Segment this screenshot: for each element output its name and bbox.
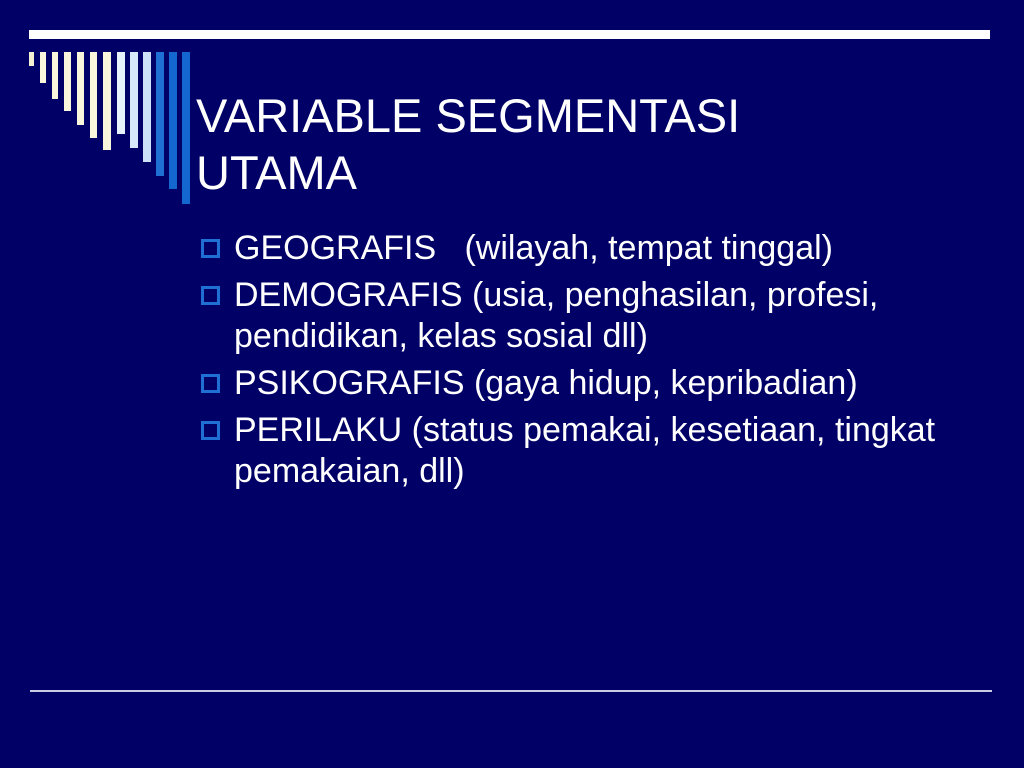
- deco-bar-2: [40, 52, 46, 83]
- list-item: PERILAKU (status pemakai, kesetiaan, tin…: [196, 410, 1006, 492]
- deco-bar-12: [169, 52, 177, 189]
- deco-bar-7: [103, 52, 111, 150]
- deco-bar-4: [64, 52, 71, 111]
- list-item-label: PSIKOGRAFIS (gaya hidup, kepribadian): [234, 364, 858, 402]
- descending-bar-graphic: [29, 52, 179, 207]
- deco-bar-8: [117, 52, 125, 134]
- bottom-divider-rule: [30, 690, 992, 692]
- list-item-label: GEOGRAFIS (wilayah, tempat tinggal): [234, 229, 833, 267]
- bullet-list: GEOGRAFIS (wilayah, tempat tinggal)DEMOG…: [196, 228, 1006, 498]
- square-bullet-icon: [201, 374, 220, 393]
- deco-bar-3: [52, 52, 58, 99]
- list-item: PSIKOGRAFIS (gaya hidup, kepribadian): [196, 363, 1006, 404]
- deco-bar-9: [130, 52, 138, 148]
- list-item: DEMOGRAFIS (usia, penghasilan, profesi, …: [196, 275, 1006, 357]
- list-item-label: DEMOGRAFIS (usia, penghasilan, profesi, …: [234, 276, 888, 355]
- deco-bar-1: [29, 52, 34, 66]
- list-item-label: PERILAKU (status pemakai, kesetiaan, tin…: [234, 411, 945, 490]
- square-bullet-icon: [201, 239, 220, 258]
- deco-bar-6: [90, 52, 97, 138]
- page-title: VARIABLE SEGMENTASI UTAMA: [196, 87, 996, 201]
- square-bullet-icon: [201, 421, 220, 440]
- deco-bar-5: [77, 52, 84, 125]
- square-bullet-icon: [201, 286, 220, 305]
- deco-bar-13: [182, 52, 190, 204]
- top-divider-rule: [29, 30, 990, 39]
- list-item: GEOGRAFIS (wilayah, tempat tinggal): [196, 228, 1006, 269]
- slide-canvas: VARIABLE SEGMENTASI UTAMA GEOGRAFIS (wil…: [0, 0, 1024, 768]
- deco-bar-11: [156, 52, 164, 176]
- deco-bar-10: [143, 52, 151, 162]
